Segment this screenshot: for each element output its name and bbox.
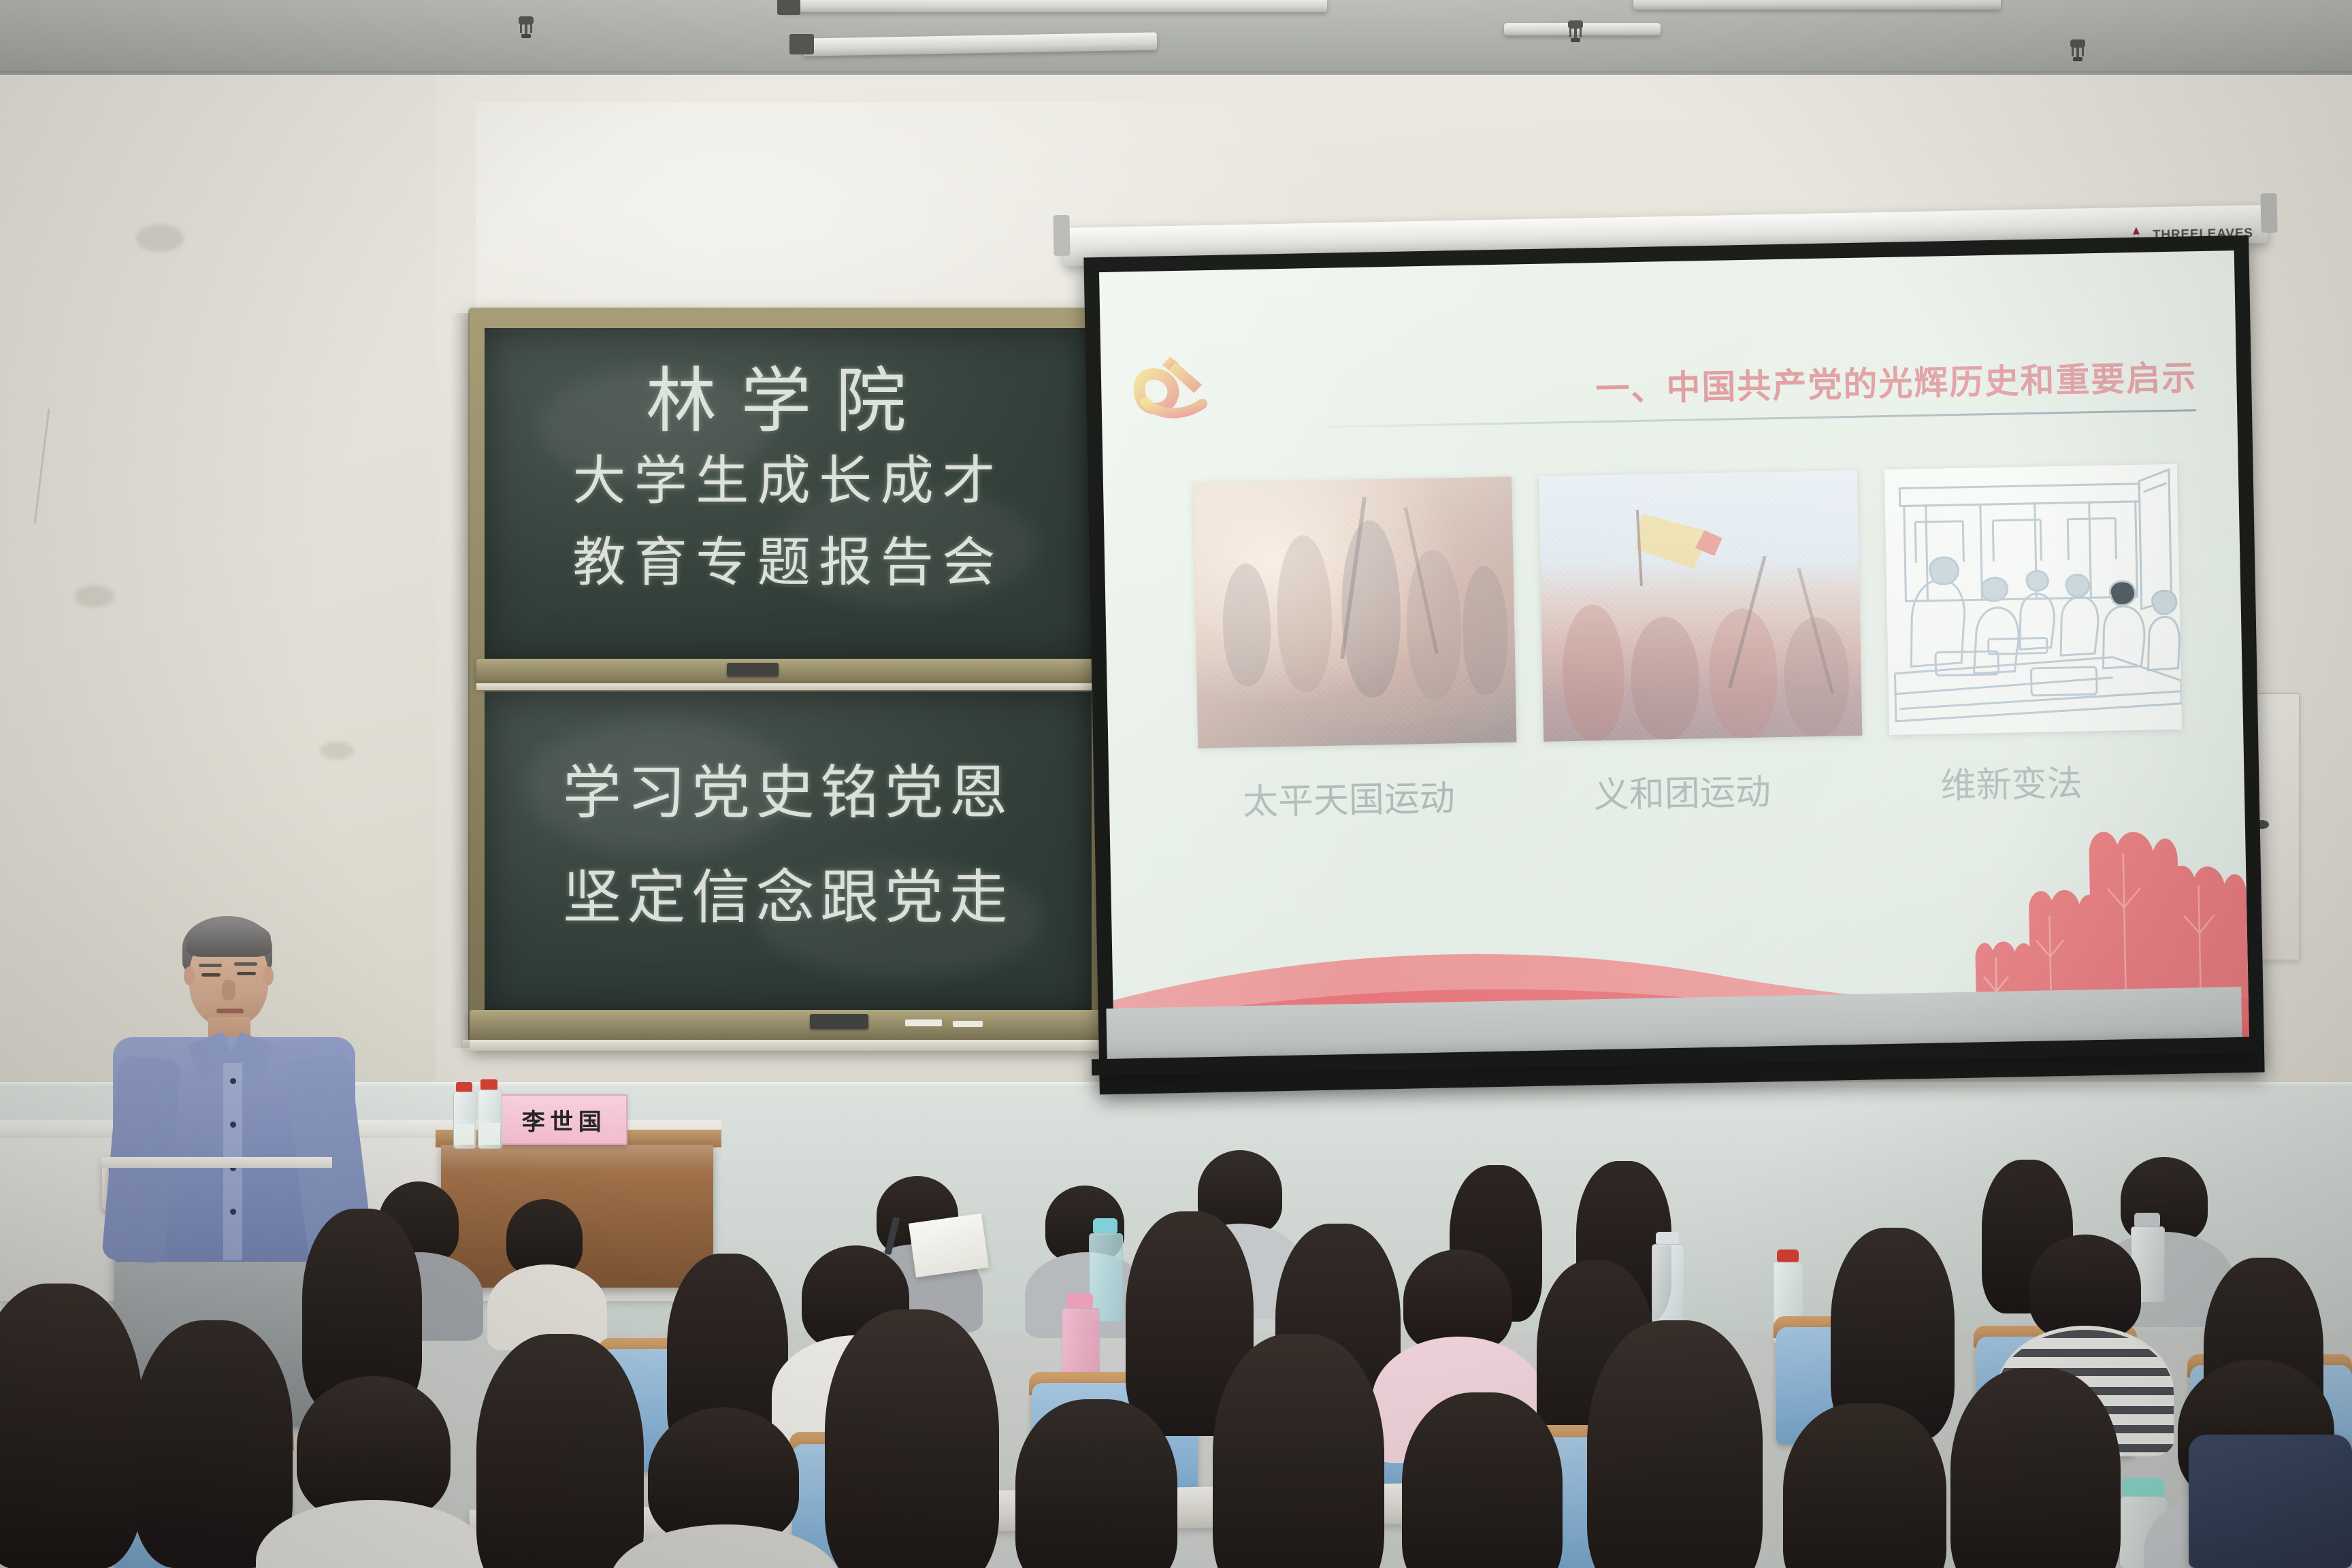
shirt-button xyxy=(230,1209,236,1215)
notebook[interactable] xyxy=(909,1213,989,1277)
blackboard-line-2: 大学生成长成才 xyxy=(485,438,1092,514)
screen-housing-end-cap xyxy=(2260,193,2277,233)
speaker-ear xyxy=(263,966,274,985)
wall-scuff xyxy=(136,225,184,252)
slide-caption-2: 义和团运动 xyxy=(1593,763,1771,817)
water-bottle[interactable] xyxy=(476,1079,502,1147)
speaker-eyebrow xyxy=(199,964,222,967)
podium-desk-surface xyxy=(101,1157,332,1168)
water-bottle[interactable] xyxy=(452,1082,476,1147)
chalkboard-shadow xyxy=(449,313,470,1048)
teacher-desk-shadow xyxy=(441,1145,713,1172)
chalk-stick[interactable] xyxy=(905,1019,942,1026)
lecture-hall-photo: 林学院 大学生成长成才 教育专题报告会 学习党史铭党恩 坚定信念跟党走 xyxy=(0,0,2352,1568)
ceiling-light-fixture xyxy=(1633,0,2001,10)
speaker-nose xyxy=(222,980,235,1000)
blackboard-heading: 林学院 xyxy=(485,343,1092,446)
name-placard-text: 李世国 xyxy=(522,1103,606,1137)
sprinkler-head-icon xyxy=(1567,20,1584,44)
chalkboard-middle-rail xyxy=(476,659,1100,686)
slide-photo-2 xyxy=(1539,470,1862,742)
slide-title-underline xyxy=(1326,409,2196,428)
slide-photo-1 xyxy=(1193,477,1516,749)
shirt-button xyxy=(230,1078,236,1084)
screen-housing-end-cap xyxy=(1053,215,1070,256)
blackboard-slogan-line-2: 坚定信念跟党走 xyxy=(485,849,1092,934)
blackboard-eraser[interactable] xyxy=(727,663,779,676)
chalk-stick[interactable] xyxy=(953,1021,983,1027)
wall-scuff xyxy=(75,585,114,607)
chalk-tray xyxy=(470,1010,1109,1043)
speaker-eye xyxy=(201,973,220,977)
slide-caption-3: 维新变法 xyxy=(1940,755,2082,808)
slide-title: 一、中国共产党的光辉历史和重要启示 xyxy=(1595,350,2198,411)
blackboard-line-3: 教育专题报告会 xyxy=(485,520,1092,596)
speaker-mouth xyxy=(216,1009,244,1013)
chalk-tray-lip xyxy=(463,1040,1116,1051)
blackboard-slogan-line-1: 学习党史铭党恩 xyxy=(485,745,1092,830)
sprinkler-head-icon xyxy=(517,16,535,39)
chalkboard-middle-rail-lip xyxy=(476,683,1100,690)
wall-scuff xyxy=(320,742,354,759)
blackboard-eraser[interactable] xyxy=(810,1014,868,1029)
ceiling-light-fixture xyxy=(783,0,1327,12)
chalkboard-lower-panel: 学习党史铭党恩 坚定信念跟党走 xyxy=(485,691,1092,1011)
cpc-party-emblem-icon xyxy=(1130,350,1213,427)
water-bottle[interactable] xyxy=(1650,1232,1685,1327)
speaker-eyebrow xyxy=(234,962,257,966)
speaker-hair-top xyxy=(186,920,271,957)
backpack xyxy=(2189,1435,2352,1568)
projected-slide: 一、中国共产党的光辉历史和重要启示 xyxy=(1099,250,2249,1063)
slide-caption-1: 太平天国运动 xyxy=(1242,769,1455,824)
slide-photo-3 xyxy=(1884,464,2182,735)
speaker-eye xyxy=(237,972,256,975)
name-placard: 李世国 xyxy=(501,1094,627,1145)
light-fixture-end-cap xyxy=(777,0,800,15)
chalkboard-upper-panel: 林学院 大学生成长成才 教育专题报告会 xyxy=(485,328,1092,660)
speaker-ear xyxy=(184,966,195,985)
sprinkler-head-icon xyxy=(2069,39,2087,63)
light-fixture-end-cap xyxy=(789,34,814,54)
shirt-button xyxy=(230,1122,236,1128)
